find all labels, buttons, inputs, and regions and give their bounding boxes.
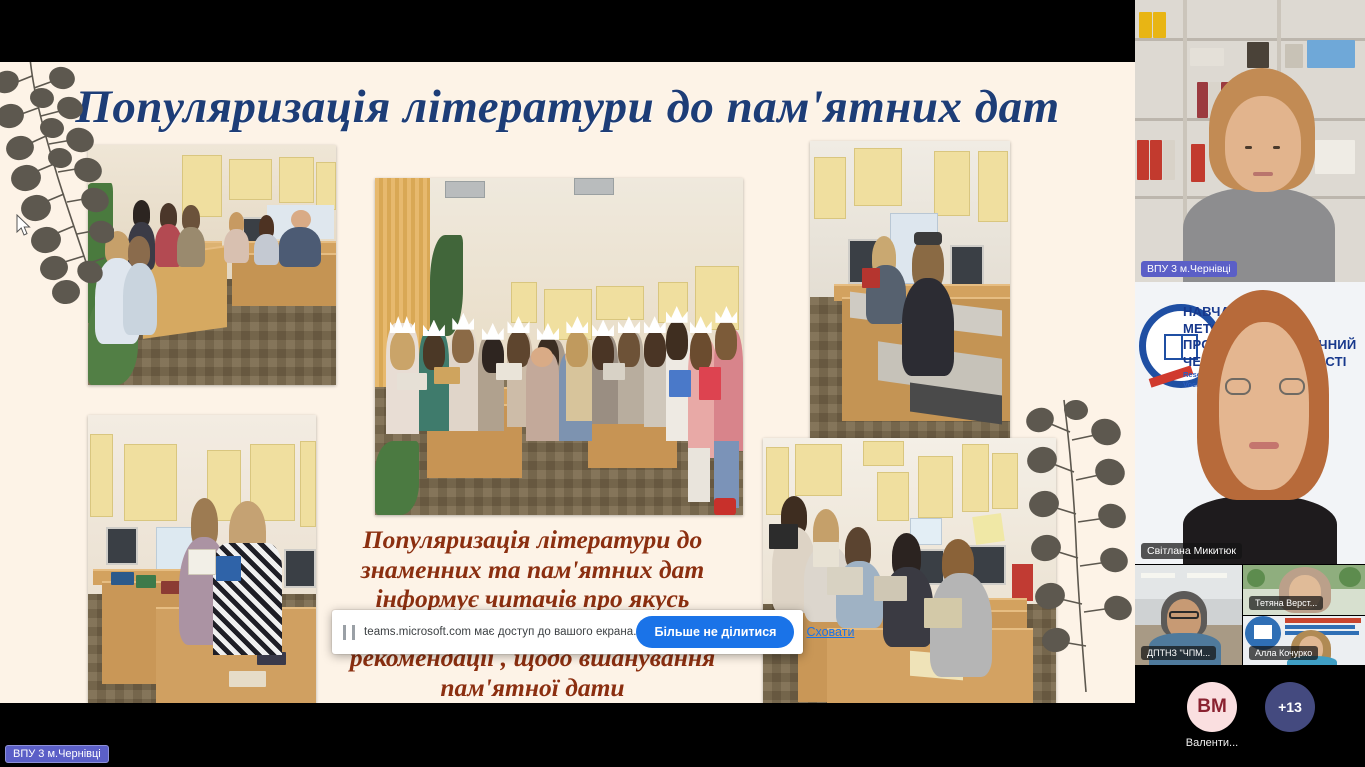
share-message: teams.microsoft.com має доступ до вашого…: [364, 626, 636, 638]
participant-name-badge: Тетяна Верст...: [1249, 596, 1323, 610]
participant-name-badge: Світлана Микитюк: [1141, 543, 1242, 559]
participant-name-badge: ВПУ 3 м.Чернівці: [1141, 261, 1237, 277]
participant-name-badge: ДПТНЗ "ЧПМ...: [1141, 646, 1216, 660]
slide-body-line: знаменних та пам'ятних дат: [330, 555, 735, 585]
video-tile-tetiana[interactable]: Тетяна Верст...: [1243, 565, 1365, 615]
participants-overflow-strip: ВМ Валенти... +13: [1135, 668, 1365, 767]
page-title: Популяризація літератури до пам'ятних да…: [0, 80, 1135, 134]
photo-book-exhibition: [88, 415, 316, 703]
photo-group-with-crowns: [375, 178, 743, 515]
taskbar-window-badge[interactable]: ВПУ 3 м.Чернівці: [5, 745, 109, 763]
photo-women-reading-newspapers: [810, 141, 1010, 467]
video-participant-rail: ВПУ 3 м.Чернівці НАВЧАЛЬНО-МЕТОДИЧНИЙ ПР…: [1135, 0, 1365, 767]
photo-library-classroom: [88, 145, 336, 385]
glasses-icon: [1225, 378, 1305, 398]
video-tile-dptnz[interactable]: ДПТНЗ "ЧПМ...: [1135, 565, 1242, 665]
screen-root: Популяризація літератури до пам'ятних да…: [0, 0, 1365, 767]
participant-name-badge: Алла Кочурко: [1249, 646, 1318, 660]
video-tile-alla-kochurko[interactable]: Алла Кочурко: [1243, 616, 1365, 665]
mouse-cursor-icon: [16, 214, 32, 238]
slide-body-line: Популяризація літератури до: [330, 525, 735, 555]
participant-face: [1225, 96, 1301, 192]
avatar-label: Валенти...: [1157, 737, 1267, 749]
shared-screen-region: Популяризація літератури до пам'ятних да…: [0, 0, 1135, 767]
stop-sharing-button[interactable]: Більше не ділитися: [636, 616, 794, 648]
more-participants-button[interactable]: +13: [1265, 682, 1315, 732]
participant-face: [1219, 322, 1309, 490]
slide-body-line: пам'ятної дати: [330, 673, 735, 703]
screen-share-notification-bar: teams.microsoft.com має доступ до вашого…: [332, 610, 803, 654]
video-tile-vpu-chernivtsi[interactable]: ВПУ 3 м.Чернівці: [1135, 0, 1365, 282]
avatar[interactable]: ВМ: [1187, 682, 1237, 732]
photo-students-reading: [763, 438, 1056, 703]
video-tile-svitlana-mykytiuk[interactable]: НАВЧАЛЬНО-МЕТОДИЧНИЙ ПРОФЕСІЙНО-ТЕХНІЧНИ…: [1135, 282, 1365, 564]
presentation-slide: Популяризація літератури до пам'ятних да…: [0, 62, 1135, 703]
hide-notification-link[interactable]: Сховати: [806, 625, 854, 639]
pause-icon[interactable]: [343, 625, 355, 640]
